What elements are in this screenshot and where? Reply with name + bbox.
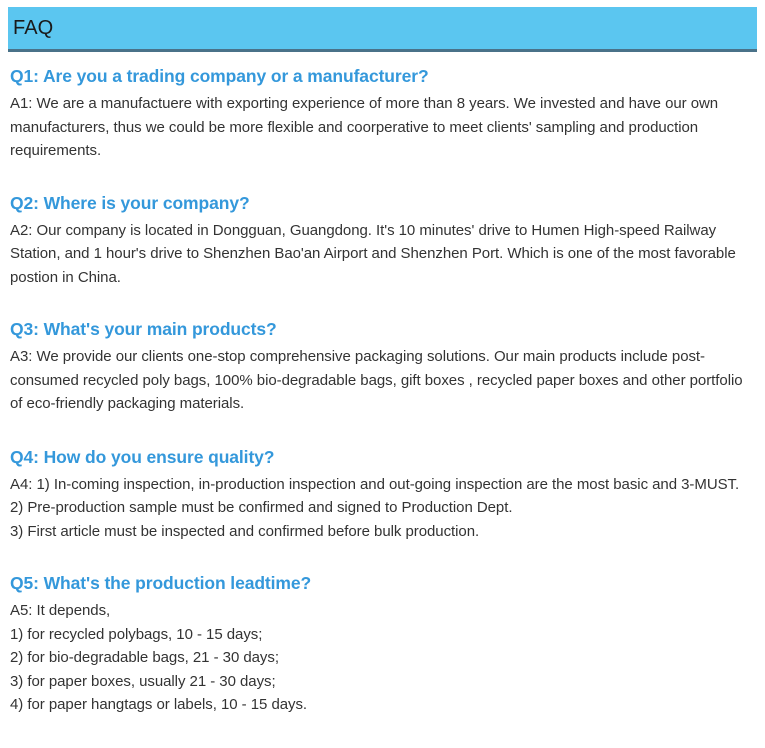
faq-page: FAQ Q1: Are you a trading company or a m… xyxy=(0,0,765,748)
section-gap xyxy=(10,543,752,573)
faq-item-q4: Q4: How do you ensure quality? A4: 1) In… xyxy=(10,447,752,544)
faq-answer-line: 3) First article must be inspected and c… xyxy=(10,520,752,544)
faq-answer-q2: A2: Our company is located in Dongguan, … xyxy=(10,219,752,290)
faq-answer-line: 4) for paper hangtags or labels, 10 - 15… xyxy=(10,693,752,717)
faq-answer-line: A4: 1) In-coming inspection, in-producti… xyxy=(10,473,752,497)
faq-question-q5: Q5: What's the production leadtime? xyxy=(10,573,752,593)
faq-question-q4: Q4: How do you ensure quality? xyxy=(10,447,752,467)
faq-answer-line: 2) for bio-degradable bags, 21 - 30 days… xyxy=(10,646,752,670)
faq-question-q2: Q2: Where is your company? xyxy=(10,193,752,213)
faq-answer-q5: A5: It depends, 1) for recycled polybags… xyxy=(10,599,752,717)
faq-header-bar: FAQ xyxy=(8,7,757,52)
faq-answer-q4: A4: 1) In-coming inspection, in-producti… xyxy=(10,473,752,544)
faq-answer-line: A3: We provide our clients one-stop comp… xyxy=(10,345,752,416)
faq-item-q3: Q3: What's your main products? A3: We pr… xyxy=(10,319,752,416)
faq-item-q5: Q5: What's the production leadtime? A5: … xyxy=(10,573,752,717)
faq-answer-q1: A1: We are a manufactuere with exporting… xyxy=(10,92,752,163)
section-gap xyxy=(10,163,752,193)
faq-list: Q1: Are you a trading company or a manuf… xyxy=(10,66,752,717)
faq-question-q1: Q1: Are you a trading company or a manuf… xyxy=(10,66,752,86)
faq-answer-line: A2: Our company is located in Dongguan, … xyxy=(10,219,752,290)
faq-answer-q3: A3: We provide our clients one-stop comp… xyxy=(10,345,752,416)
section-gap xyxy=(10,289,752,319)
faq-answer-line: 2) Pre-production sample must be confirm… xyxy=(10,496,752,520)
faq-item-q1: Q1: Are you a trading company or a manuf… xyxy=(10,66,752,163)
faq-answer-line: A5: It depends, xyxy=(10,599,752,623)
faq-question-q3: Q3: What's your main products? xyxy=(10,319,752,339)
section-gap xyxy=(10,416,752,447)
faq-answer-line: 3) for paper boxes, usually 21 - 30 days… xyxy=(10,670,752,694)
faq-item-q2: Q2: Where is your company? A2: Our compa… xyxy=(10,193,752,290)
faq-answer-line: A1: We are a manufactuere with exporting… xyxy=(10,92,752,163)
page-title: FAQ xyxy=(8,18,53,38)
faq-answer-line: 1) for recycled polybags, 10 - 15 days; xyxy=(10,623,752,647)
